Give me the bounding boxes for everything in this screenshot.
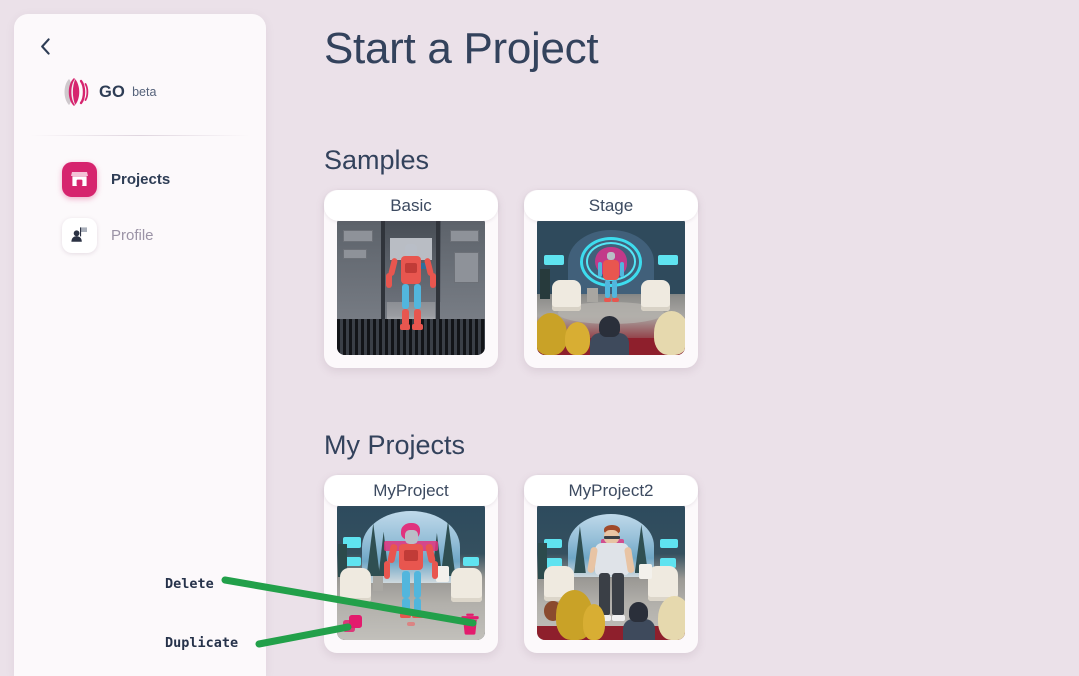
- brand-beta-tag: beta: [132, 85, 156, 99]
- project-card-myproject-label: MyProject: [324, 475, 498, 506]
- page-title: Start a Project: [324, 24, 598, 74]
- sidebar-item-projects-label: Projects: [111, 171, 170, 188]
- project-card-stage[interactable]: Stage: [524, 190, 698, 368]
- project-thumbnail-basic: [337, 216, 485, 355]
- project-thumbnail-myproject2: [537, 501, 685, 640]
- project-card-basic[interactable]: Basic: [324, 190, 498, 368]
- sidebar-item-profile[interactable]: Profile: [62, 217, 252, 253]
- project-card-basic-label: Basic: [324, 190, 498, 221]
- section-title-samples: Samples: [324, 145, 429, 176]
- sidebar-divider: [30, 135, 250, 136]
- samples-card-row: Basic: [324, 190, 698, 368]
- project-thumbnail-stage: [537, 216, 685, 355]
- trash-icon[interactable]: [460, 613, 480, 635]
- go-swirl-logo: [62, 76, 90, 108]
- project-card-myproject2[interactable]: MyProject2: [524, 475, 698, 653]
- project-card-stage-label: Stage: [524, 190, 698, 221]
- app-root: GO beta Projects: [0, 0, 1079, 676]
- chevron-left-icon: [40, 38, 51, 55]
- sidebar-item-projects[interactable]: Projects: [62, 161, 252, 197]
- my-projects-card-row: MyProject: [324, 475, 698, 653]
- brand: GO beta: [62, 76, 156, 108]
- sidebar-item-profile-label: Profile: [111, 227, 154, 244]
- sidebar-nav: Projects Profile: [62, 161, 252, 273]
- main-content: Start a Project Samples Basic: [266, 0, 1079, 676]
- duplicate-icon[interactable]: [342, 613, 364, 635]
- store-icon: [62, 162, 97, 197]
- project-card-myproject[interactable]: MyProject: [324, 475, 498, 653]
- sidebar-collapse-button[interactable]: [30, 30, 60, 62]
- profile-icon: [62, 218, 97, 253]
- section-title-my-projects: My Projects: [324, 430, 465, 461]
- sidebar: GO beta Projects: [14, 14, 266, 676]
- project-card-myproject2-label: MyProject2: [524, 475, 698, 506]
- brand-name: GO: [99, 83, 125, 102]
